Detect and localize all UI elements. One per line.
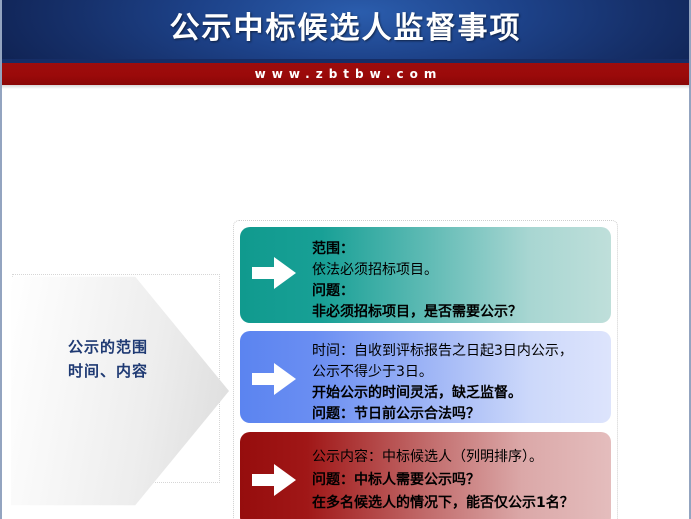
arrow-head [274,363,296,395]
list-item-scope[interactable]: 范围： 依法必须招标项目。 问题： 非必须招标项目，是否需要公示？ [240,227,611,323]
list-item-time[interactable]: 时间：自收到评标报告之日起3日内公示， 公示不得少于3日。 开始公示的时间灵活，… [240,331,611,423]
list-item-content-text: 公示内容：中标候选人（列明排序）。 问题：中标人需要公示吗？ 在多名候选人的情况… [312,446,603,515]
website-bar: www.zbtbw.com [2,63,689,85]
slide-header-banner: 公示中标候选人监督事项 [2,0,689,62]
right-arrow-icon [252,464,300,496]
website-url: www.zbtbw.com [2,63,689,85]
page-title: 公示中标候选人监督事项 [2,9,689,49]
text-line: 依法必须招标项目。 [312,260,603,281]
arrow-label-line-1: 公示的范围 [18,335,198,359]
text-line: 公示内容：中标候选人（列明排序）。 [312,446,603,469]
text-line: 问题：节日前公示合法吗？ [312,404,603,423]
arrow-head [274,257,296,289]
arrow-label: 公示的范围 时间、内容 [18,335,198,383]
slide-body: 公示的范围 时间、内容 范围： 依法必须招标项目。 问题： 非必须招标项目，是否… [2,89,689,519]
slide-canvas: 公示中标候选人监督事项 www.zbtbw.com 公示的范围 时间、内容 范围… [0,0,691,519]
text-line: 非必须招标项目，是否需要公示？ [312,302,603,323]
text-line: 时间：自收到评标报告之日起3日内公示， [312,341,603,362]
arrow-label-line-2: 时间、内容 [18,359,198,383]
text-line: 公示不得少于3日。 [312,362,603,383]
list-item-time-text: 时间：自收到评标报告之日起3日内公示， 公示不得少于3日。 开始公示的时间灵活，… [312,341,603,423]
right-arrow-icon [252,257,300,289]
right-arrow-icon [252,363,300,395]
text-line: 范围： [312,239,603,260]
arrow-head [274,464,296,496]
list-item-content[interactable]: 公示内容：中标候选人（列明排序）。 问题：中标人需要公示吗？ 在多名候选人的情况… [240,432,611,519]
text-line: 开始公示的时间灵活，缺乏监督。 [312,383,603,404]
text-line: 问题：中标人需要公示吗？ [312,469,603,492]
list-item-scope-text: 范围： 依法必须招标项目。 问题： 非必须招标项目，是否需要公示？ [312,239,603,323]
text-line: 在多名候选人的情况下，能否仅公示1名？ [312,492,603,515]
text-line: 问题： [312,281,603,302]
